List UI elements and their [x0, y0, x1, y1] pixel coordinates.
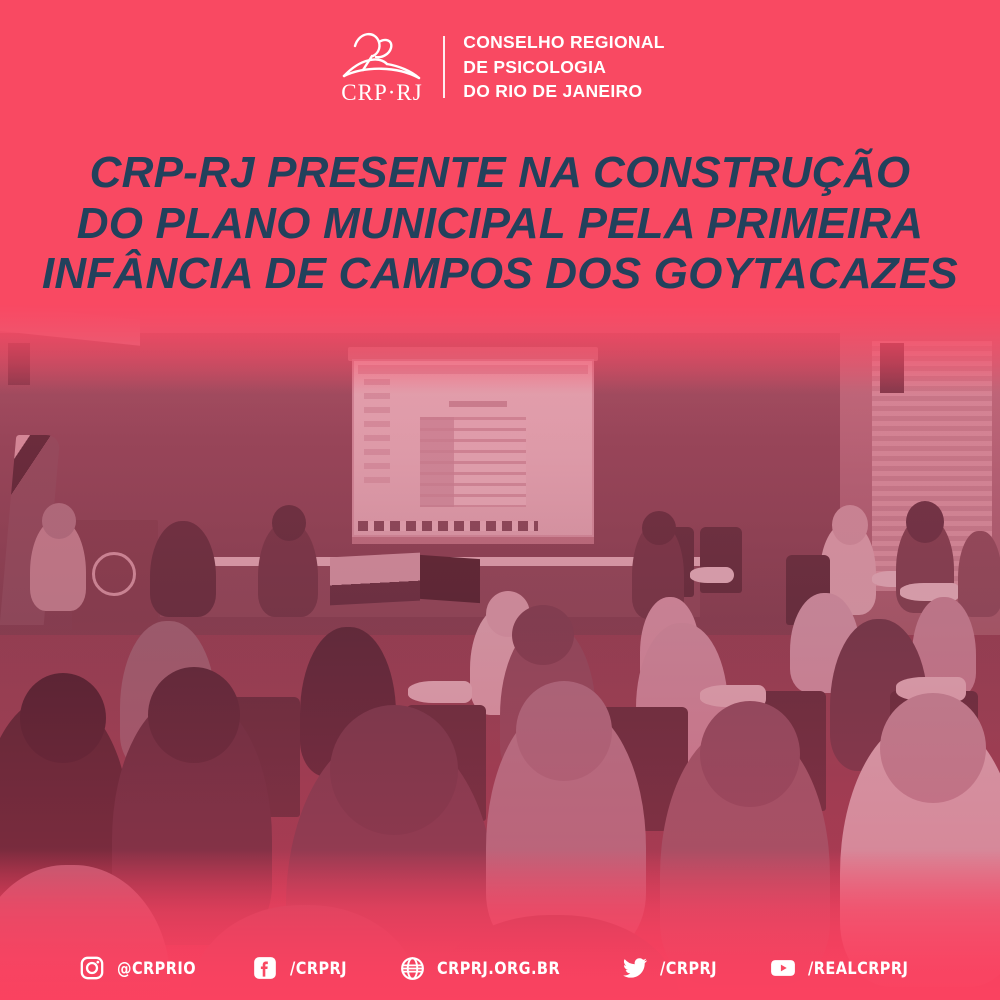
page-title: CRP-RJ PRESENTE NA CONSTRUÇÃO DO PLANO M… — [0, 148, 1000, 300]
social-item-facebook[interactable]: /CRPRJ — [251, 954, 355, 982]
social-label-youtube: /REALCRPRJ — [808, 959, 908, 978]
globe-icon — [398, 954, 426, 982]
event-photo — [0, 305, 1000, 1000]
logo-divider — [443, 36, 445, 98]
instagram-icon — [78, 954, 106, 982]
social-item-website[interactable]: CRPRJ.ORG.BR — [398, 954, 577, 982]
brand-header: CRP·RJ CONSELHO REGIONAL DE PSICOLOGIA D… — [0, 26, 1000, 108]
org-name-line-1: CONSELHO REGIONAL — [463, 30, 665, 55]
social-label-instagram: @CRPRIO — [117, 959, 196, 978]
logo-wordmark: CRP·RJ — [342, 80, 423, 105]
title-line-1: CRP-RJ PRESENTE NA CONSTRUÇÃO — [24, 148, 976, 199]
title-line-2: DO PLANO MUNICIPAL PELA PRIMEIRA — [24, 199, 976, 250]
youtube-icon — [769, 954, 797, 982]
social-item-youtube[interactable]: /REALCRPRJ — [769, 954, 922, 982]
twitter-icon — [621, 954, 649, 982]
org-name-line-2: DE PSICOLOGIA — [463, 55, 665, 80]
facebook-icon — [251, 954, 279, 982]
social-bar: @CRPRIO /CRPRJ CRPRJ.ORG.BR — [0, 954, 1000, 982]
social-item-twitter[interactable]: /CRPRJ — [621, 954, 725, 982]
org-name-line-3: DO RIO DE JANEIRO — [463, 79, 665, 104]
social-item-instagram[interactable]: @CRPRIO — [78, 954, 207, 982]
crp-rj-logo-mark: CRP·RJ — [335, 26, 431, 108]
social-label-twitter: /CRPRJ — [660, 959, 717, 978]
social-label-facebook: /CRPRJ — [290, 959, 347, 978]
title-line-3: INFÂNCIA DE CAMPOS DOS GOYTACAZES — [24, 249, 976, 300]
poster-canvas: CRP·RJ CONSELHO REGIONAL DE PSICOLOGIA D… — [0, 0, 1000, 1000]
org-name-block: CONSELHO REGIONAL DE PSICOLOGIA DO RIO D… — [463, 30, 665, 105]
social-label-website: CRPRJ.ORG.BR — [437, 959, 560, 978]
